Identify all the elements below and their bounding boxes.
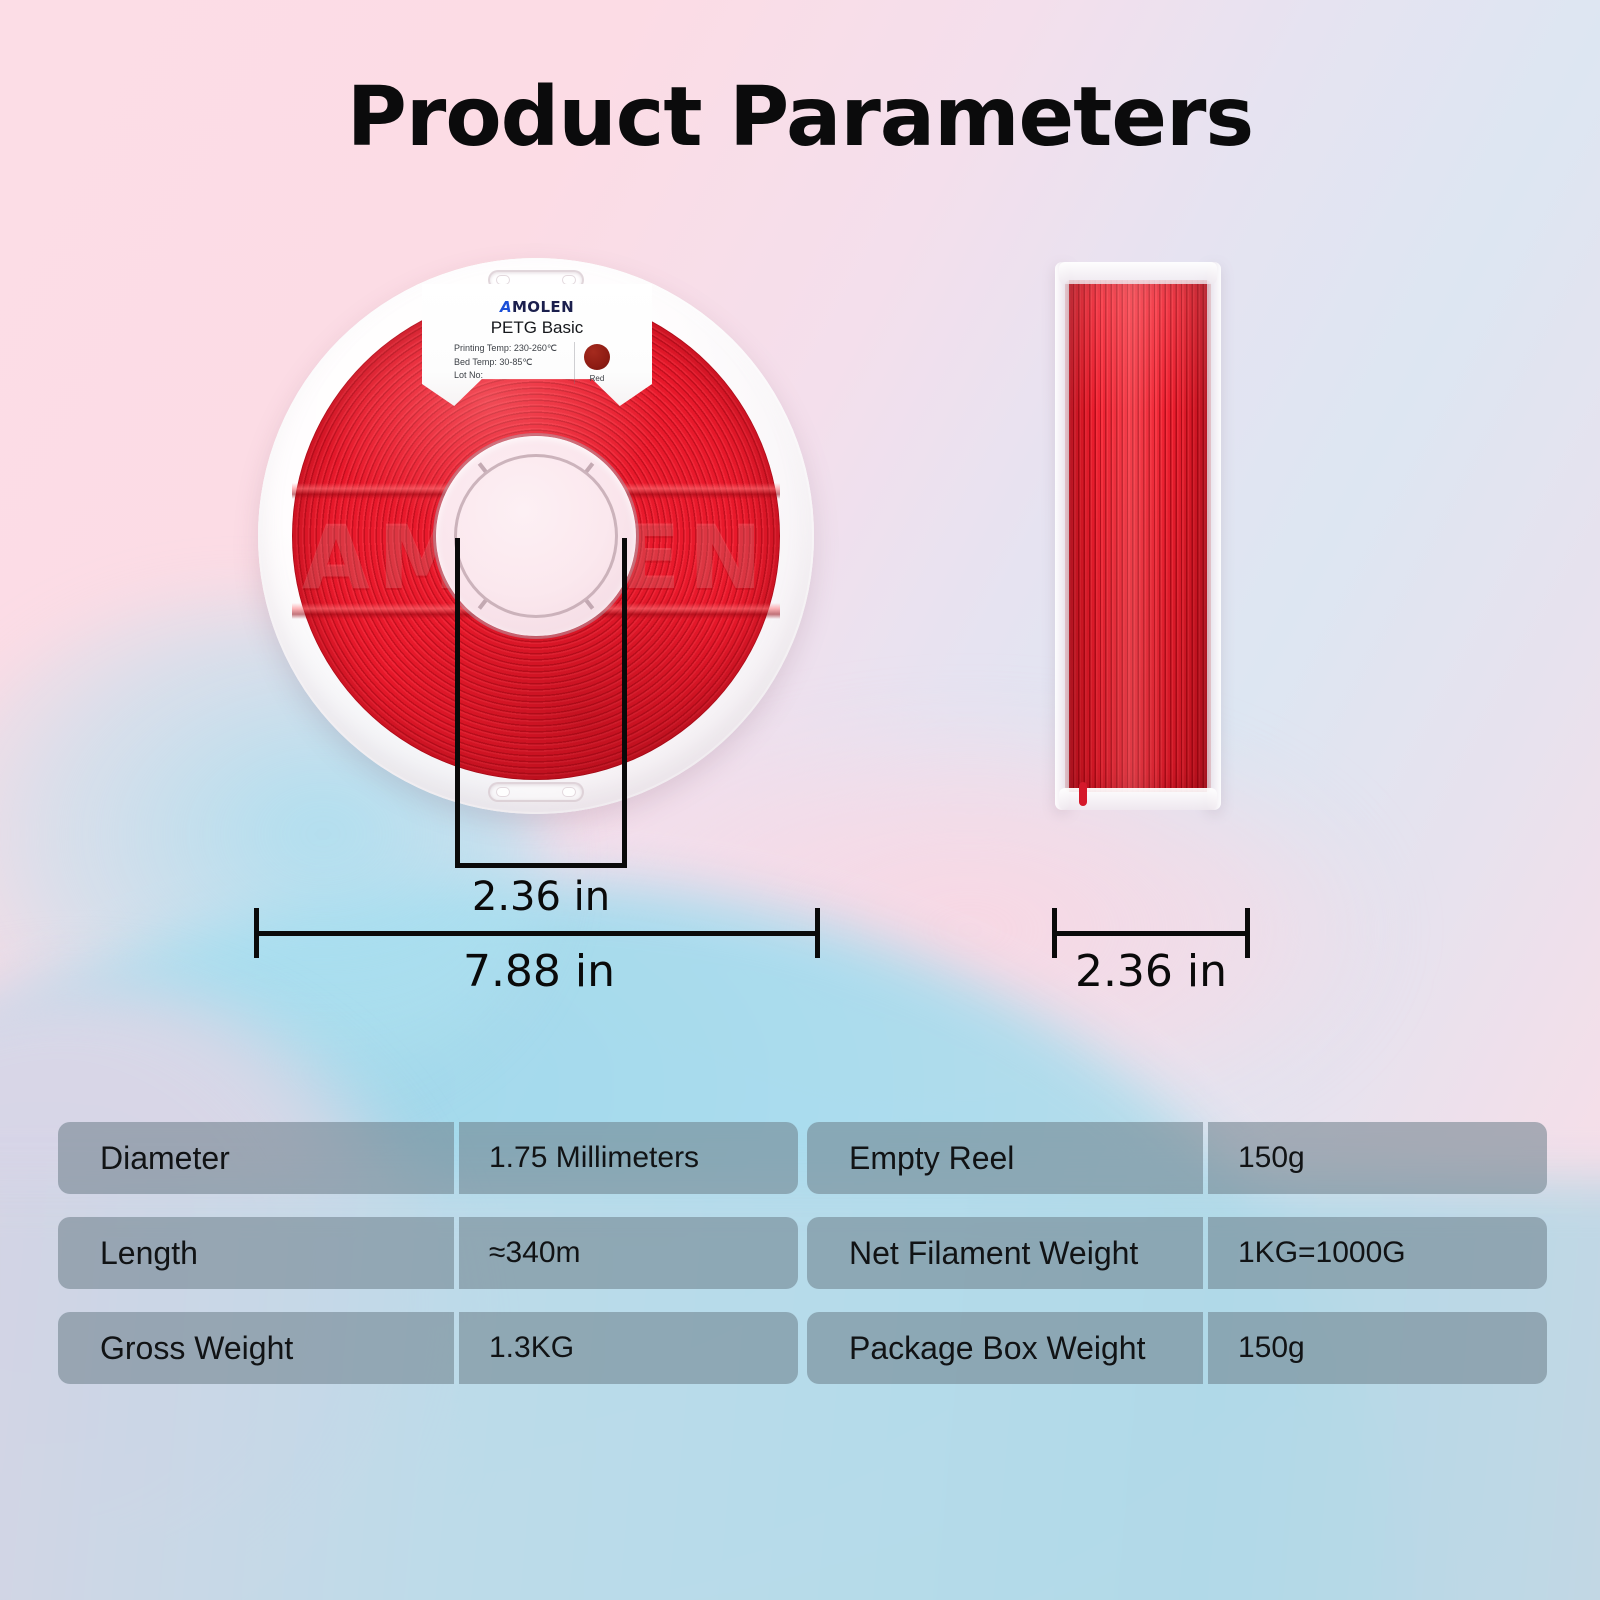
filament-spool-side-view	[1055, 262, 1221, 810]
label-divider	[574, 342, 575, 384]
spec-value-cell: 1.75 Millimeters	[459, 1122, 798, 1194]
spec-value-cell: 1.3KG	[459, 1312, 798, 1384]
spec-key-cell: Net Filament Weight	[807, 1217, 1203, 1289]
spec-value-cell: 150g	[1208, 1122, 1547, 1194]
spec-key-cell: Package Box Weight	[807, 1312, 1203, 1384]
spool-flange-left	[1055, 262, 1069, 810]
slot-hole	[496, 275, 510, 285]
brand-logo: AMOLEN	[422, 298, 652, 316]
bore-dimension-label: 2.36 in	[366, 874, 716, 920]
color-swatch-label: Red	[576, 374, 618, 383]
table-row: Gross Weight 1.3KG	[58, 1312, 793, 1384]
slot-hole	[562, 787, 576, 797]
spec-value-cell: ≈340m	[459, 1217, 798, 1289]
filament-tail-end	[1079, 782, 1087, 806]
width-dimension-label: 2.36 in	[1002, 946, 1300, 997]
filament-spool-front-view: AMOLEN AMOLEN PETG Basic Printing Temp: …	[258, 258, 814, 814]
spool-handle-slot-bottom	[488, 782, 584, 802]
spool-hub-bore	[454, 454, 618, 618]
brand-logo-text: MOLEN	[512, 298, 574, 316]
spool-edge-top	[1059, 262, 1217, 284]
diameter-dimension-bar	[254, 931, 820, 936]
table-row: Diameter 1.75 Millimeters	[58, 1122, 793, 1194]
filament-strands-sheen	[1065, 280, 1211, 792]
spool-flange-right	[1207, 262, 1221, 810]
brand-logo-mark: A	[500, 298, 512, 316]
bed-temp-line: Bed Temp: 30-85℃	[454, 356, 572, 370]
product-name-label: PETG Basic	[422, 318, 652, 338]
table-row: Package Box Weight 150g	[807, 1312, 1542, 1384]
bore-dimension-line-left	[455, 538, 460, 868]
width-dimension-bar	[1052, 931, 1250, 936]
spec-key-cell: Empty Reel	[807, 1122, 1203, 1194]
diameter-dimension-label: 7.88 in	[256, 946, 822, 997]
slot-hole	[496, 787, 510, 797]
specification-table: Diameter 1.75 Millimeters Empty Reel 150…	[58, 1122, 1542, 1384]
spec-key-cell: Length	[58, 1217, 454, 1289]
printing-temp-line: Printing Temp: 230-260℃	[454, 342, 572, 356]
table-row: Net Filament Weight 1KG=1000G	[807, 1217, 1542, 1289]
bore-dimension-bar	[455, 863, 627, 868]
spec-key-cell: Diameter	[58, 1122, 454, 1194]
lot-no-line: Lot No:	[454, 369, 572, 383]
spec-value-cell: 1KG=1000G	[1208, 1217, 1547, 1289]
table-row: Empty Reel 150g	[807, 1122, 1542, 1194]
color-swatch	[584, 344, 610, 370]
label-spec-lines: Printing Temp: 230-260℃ Bed Temp: 30-85℃…	[454, 342, 572, 383]
spec-key-cell: Gross Weight	[58, 1312, 454, 1384]
bore-dimension-line-right	[622, 538, 627, 868]
slot-hole	[562, 275, 576, 285]
spec-value-cell: 150g	[1208, 1312, 1547, 1384]
infographic-canvas: Product Parameters AMOLEN AMOLEN PETG Ba…	[0, 0, 1600, 1600]
page-title: Product Parameters	[0, 70, 1600, 165]
table-row: Length ≈340m	[58, 1217, 793, 1289]
